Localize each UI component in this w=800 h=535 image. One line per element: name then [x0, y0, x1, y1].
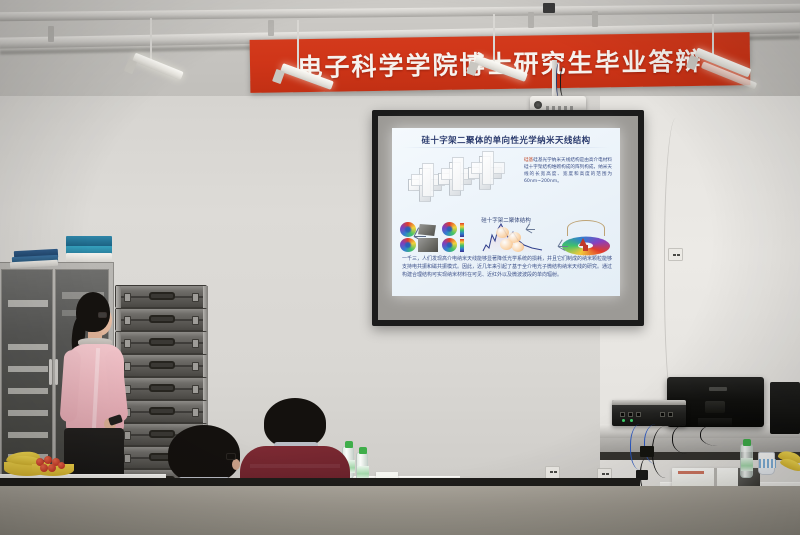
monitor-stand-mount — [705, 401, 725, 413]
cabinet-handle[interactable] — [49, 359, 52, 385]
pipe-clip — [268, 20, 274, 36]
wall-cable — [664, 118, 690, 418]
projector-cable — [560, 66, 570, 98]
slide-title: 硅十字架二聚体的单向性光学纳米天线结构 — [398, 134, 614, 146]
cup-stripe-band — [759, 459, 776, 468]
slide-paragraph-top: 硅基硅基光学纳米天线结构是由高介电材料硅十字架结构堆砌构成的阵列构成，纳米天线的… — [524, 158, 612, 186]
floor — [0, 486, 800, 535]
switch-port — [628, 412, 633, 417]
tomato — [58, 462, 65, 469]
tomato — [44, 456, 52, 464]
bottle-cap — [359, 447, 367, 454]
flight-case — [115, 354, 207, 377]
presentation-slide: 硅十字架二聚体的单向性光学纳米天线结构 — [392, 128, 620, 296]
storage-box — [66, 253, 112, 262]
cross-unit — [438, 162, 472, 196]
projector-lens-icon — [534, 101, 542, 109]
paragraph-text: 硅基光学纳米天线结构是由高介电材料硅十字架结构堆砌构成的阵列构成，纳米天线的长宽… — [524, 158, 612, 184]
field-distribution-figure — [400, 222, 470, 252]
monitor-brand-label — [709, 387, 727, 391]
paragraph-highlight: 硅基 — [524, 158, 533, 163]
flight-case — [115, 377, 207, 400]
notebook-text-line — [678, 471, 704, 474]
status-led — [630, 419, 633, 422]
flight-case — [115, 308, 207, 331]
presenter — [56, 292, 128, 492]
switch-top-panel — [612, 400, 686, 405]
status-led — [622, 419, 625, 422]
radiation-pattern-figure — [558, 220, 614, 254]
cross-unit — [408, 168, 442, 202]
slide-paragraph-bottom: 一千三，人们发现高介电纳米天线能够显著降低光学系统的损耗，并且它们制成的纳米颗粒… — [402, 256, 612, 279]
tomato — [48, 464, 56, 472]
switch-port — [660, 412, 665, 417]
projection-screen: 硅十字架二聚体的单向性光学纳米天线结构 — [372, 110, 644, 326]
pipe-clip — [48, 26, 54, 42]
switch-port — [636, 412, 641, 417]
glasses-icon — [226, 453, 236, 460]
water-bottle — [740, 444, 753, 478]
ceiling-junction-box — [543, 3, 555, 13]
small-axes-icon — [558, 240, 570, 252]
silicon-cross-dimer-model — [406, 154, 516, 210]
screen-surface: 硅十字架二聚体的单向性光学纳米天线结构 — [378, 116, 638, 320]
bottle-label — [741, 458, 753, 471]
flight-case — [115, 285, 207, 308]
small-axes-icon — [526, 224, 536, 234]
audience-head — [264, 398, 326, 448]
tomato — [40, 464, 48, 472]
switch-port — [668, 412, 673, 417]
audience-ear — [232, 459, 240, 470]
paper-cup — [758, 452, 775, 475]
cross-unit — [468, 156, 502, 190]
network-switch — [612, 400, 686, 426]
light-rod — [493, 14, 495, 68]
pipe-clip — [528, 12, 534, 28]
flight-case — [115, 400, 207, 423]
wall-outlet — [668, 248, 683, 261]
power-adapter — [640, 446, 654, 457]
switch-port — [620, 412, 625, 417]
glasses-icon — [98, 312, 107, 318]
paragraph-text: 一千三，人们发现高介电纳米天线能够显著降低光学系统的损耗，并且它们制成的纳米颗粒… — [402, 256, 612, 278]
secondary-monitor — [770, 382, 800, 434]
pipe-clip — [592, 11, 598, 27]
slide-title-divider — [402, 147, 610, 148]
bottle-cap — [743, 439, 751, 446]
flight-case — [115, 331, 207, 354]
slide-figure-row — [400, 220, 612, 254]
seminar-room-photo: 电子科学学院博士研究生毕业答辩 硅十字架二聚体的单向性光学纳米天线结构 — [0, 0, 800, 535]
power-cable — [700, 424, 740, 446]
scattering-spectrum-figure — [482, 221, 544, 253]
